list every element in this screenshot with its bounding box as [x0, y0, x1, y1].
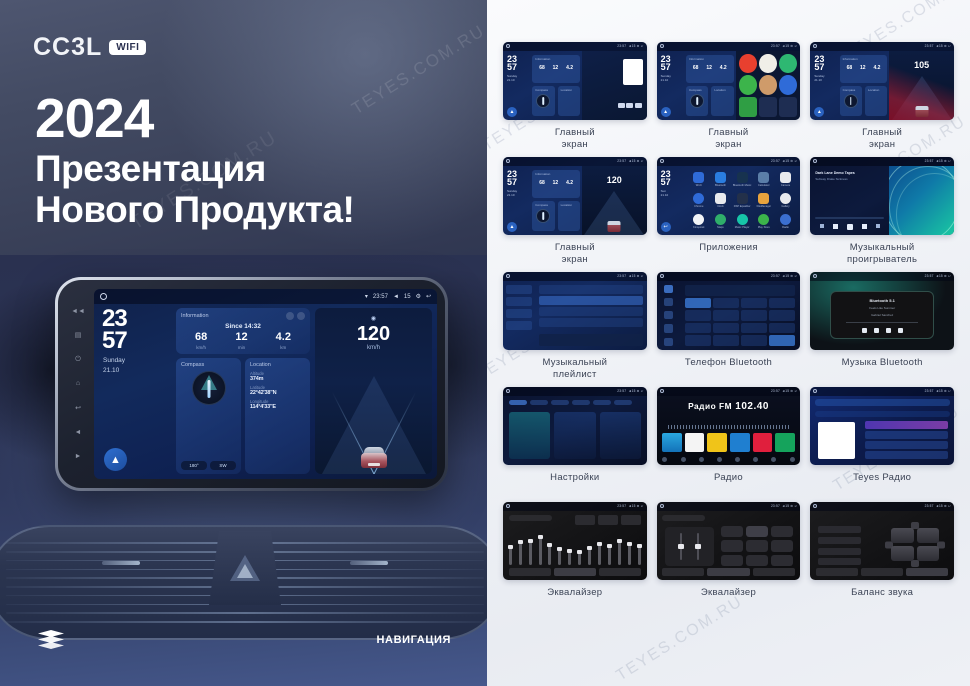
stat-unit: min [235, 345, 247, 350]
home-icon [506, 504, 510, 508]
gallery-item[interactable]: 23:57◄15 ⚙ ↩ Радио FM 102.40 [657, 387, 801, 496]
radio-frequency: 102.40 [735, 401, 769, 412]
volume-down-key[interactable]: ◄ [75, 429, 82, 436]
speed-unit: km/h [367, 345, 380, 351]
settings-icon[interactable] [286, 312, 294, 320]
thumbnail-caption: Музыкальныйплейлист [542, 357, 607, 381]
gallery-item[interactable]: 23:57◄15 ⚙ ↩ Dark Lane Demo Tapes Subway… [810, 157, 954, 266]
compass-heading: 180° [181, 461, 207, 470]
menu-key[interactable]: ▤ [75, 332, 82, 339]
watermark: TEYES.COM.RU [348, 21, 487, 119]
status-time: 23:57 [617, 159, 626, 163]
status-icons: ◄15 ⚙ ↩ [628, 44, 643, 48]
gallery-item[interactable]: 23:57◄15 ⚙ ↩ Эквалайзер [503, 502, 647, 611]
status-time: 23:57 [617, 44, 626, 48]
status-time: 23:57 [771, 159, 780, 163]
app-tile: Play Store [754, 212, 774, 231]
settings-tabs[interactable] [509, 400, 632, 405]
app-grid[interactable]: Wi-Fi Bluetooth Bluetooth Music Calculat… [684, 166, 800, 235]
thumbnail-image[interactable]: 23:57◄15 ⚙ ↩ [503, 387, 647, 465]
latitude-value: 22°42'38"N [250, 390, 305, 396]
thumbnail-caption: Музыка Bluetooth [842, 357, 923, 381]
presentation-page: TEYES.COM.RU TEYES.COM.RU TEYES.COM.RU C… [0, 0, 970, 686]
thumbnail-caption: Музыкальныйпроигрыватель [847, 242, 917, 266]
stat-unit: km/h [195, 345, 207, 350]
phone-sidebar[interactable] [657, 281, 680, 350]
clock-day: Sunday [99, 357, 171, 365]
widget-column: Information Since 14:32 68 km/h [176, 308, 310, 474]
speed-value: 120 [582, 175, 647, 185]
thumbnail-caption: Приложения [699, 242, 758, 266]
thumbnail-image[interactable]: 23:57◄15 ⚙ ↩ [810, 387, 954, 465]
layers-icon [38, 630, 64, 652]
status-time: 23:57 [925, 159, 934, 163]
thumbnail-image[interactable]: 23:57◄15 ⚙ ↩ [657, 502, 801, 580]
playlist-sidebar[interactable] [503, 281, 535, 350]
head-unit-screen[interactable]: ▾ 23:57 ◄ 15 ⚙ ↩ 23 57 Sunday 21.10 [94, 289, 437, 479]
hazard-button[interactable] [209, 531, 281, 605]
eq-tabs[interactable] [509, 568, 641, 576]
mute-key[interactable]: ◄◄ [71, 308, 85, 315]
home-icon [660, 504, 664, 508]
volume-up-key[interactable]: ► [75, 453, 82, 460]
status-time: 23:57 [771, 274, 780, 278]
stat-item: 12 min [235, 332, 247, 350]
app-tile: Music Player [732, 212, 752, 231]
balance-presets[interactable] [818, 526, 861, 566]
stat-value: 68 [195, 332, 207, 343]
balance-stage[interactable] [885, 522, 945, 568]
status-icons: ◄15 ⚙ ↩ [936, 389, 951, 393]
radio-toolbar[interactable] [662, 456, 794, 463]
thumbnail-image[interactable]: 23:57◄15 ⚙ ↩ [503, 502, 647, 580]
app-tile: Gallery [776, 191, 796, 210]
app-tile: Bluetooth Music [732, 170, 752, 189]
home-icon[interactable] [100, 293, 107, 300]
status-icons: ◄15 ⚙ ↩ [936, 159, 951, 163]
back-icon[interactable]: ↩ [426, 293, 431, 300]
navigation-label: НАВИГАЦИЯ [377, 634, 451, 646]
product-logo: CC3L WIFI [33, 33, 146, 62]
thumbnail-caption: Главныйэкран [709, 127, 749, 151]
wifi-badge: WIFI [109, 40, 146, 55]
bluetooth-version: Bluetooth 5.1 [869, 298, 894, 303]
status-icons: ◄15 ⚙ ↩ [628, 504, 643, 508]
status-icons: ◄15 ⚙ ↩ [782, 504, 797, 508]
gallery-item[interactable]: 23:57◄15 ⚙ ↩ Настройки [503, 387, 647, 496]
home-icon [660, 274, 664, 278]
navigation-button[interactable]: ▲ [104, 448, 127, 471]
more-card [600, 412, 641, 459]
app-tile: Radio [776, 212, 796, 231]
eq-preset-buttons[interactable] [575, 515, 641, 525]
eq-effect-pads[interactable] [721, 526, 793, 566]
clock-minutes: 57 [99, 330, 171, 352]
status-time: 23:57 [617, 274, 626, 278]
thumbnail-caption: Телефон Bluetooth [685, 357, 772, 381]
gallery-item[interactable]: 23:57◄15 ⚙ ↩ 2357Sunday21.10▲ Informatio… [503, 42, 647, 151]
app-tile: Kinopoisk [689, 212, 709, 231]
status-time: 23:57 [771, 504, 780, 508]
gallery-item[interactable]: 23:57◄15 ⚙ ↩ 2357Sunday21.10▲ Informatio… [657, 42, 801, 151]
refresh-icon[interactable] [297, 312, 305, 320]
radio-band: Радио FM [688, 401, 732, 411]
thumbnail-image[interactable]: 23:57◄15 ⚙ ↩ [503, 272, 647, 350]
home-icon [813, 389, 817, 393]
hotspot-card [554, 412, 595, 459]
eq-preset-label [662, 515, 705, 521]
home-icon [506, 44, 510, 48]
back-key[interactable]: ↩ [75, 405, 81, 412]
thumbnail-image[interactable]: 23:57◄15 ⚙ ↩ Dark Lane Demo Tapes Subway… [810, 157, 954, 235]
home-icon [660, 389, 664, 393]
thumbnail-caption: Главныйэкран [555, 127, 595, 151]
altitude-value: 374m [250, 376, 305, 382]
thumbnail-image[interactable]: 23:57◄15 ⚙ ↩ 2357Sunday21.10▲ Informatio… [503, 157, 647, 235]
screenshot-gallery: TEYES.COM.RU TEYES.COM.RU TEYES.COM.RU T… [487, 0, 970, 686]
status-time: 23:57 [771, 44, 780, 48]
wifi-card [509, 412, 550, 459]
thumbnail-caption: Эквалайзер [547, 587, 602, 611]
gallery-item[interactable]: 23:57◄15 ⚙ ↩ Эквалайзер [657, 502, 801, 611]
stat-item: 4.2 km [276, 332, 291, 350]
compass-dial [192, 371, 226, 405]
thumbnail-image[interactable]: 23:57◄15 ⚙ ↩ Радио FM 102.40 [657, 387, 801, 465]
thumbnail-caption: Радио [714, 472, 743, 496]
home-icon [813, 504, 817, 508]
app-tile: Chrome [689, 191, 709, 210]
eq-preset-label [509, 515, 552, 521]
thumbnail-image[interactable]: 23:57◄15 ⚙ ↩ 2357Sunday21.10▲ Informatio… [810, 42, 954, 120]
gallery-item[interactable]: 23:57◄15 ⚙ ↩ [657, 272, 801, 381]
thumbnail-caption: Главныйэкран [862, 127, 902, 151]
teyes-radio-tabs[interactable] [815, 399, 950, 406]
status-icons: ◄15 ⚙ ↩ [782, 389, 797, 393]
hardware-key-column[interactable]: ◄◄ ▤ ⏻ ⌂ ↩ ◄ ► [68, 289, 88, 479]
location-title: Location [250, 362, 271, 368]
thumbnail-image[interactable]: 23:57◄15 ⚙ ↩ Bluetooth 5.1 Feels Like Su… [810, 272, 954, 350]
media-controls[interactable] [617, 103, 643, 108]
now-playing-bar[interactable] [539, 334, 643, 346]
status-icons: ◄15 ⚙ ↩ [936, 44, 951, 48]
clock-date: 21.10 [99, 367, 171, 375]
gallery-item[interactable]: 23:57◄15 ⚙ ↩ 2357Sunday21.10▲ Informatio… [503, 157, 647, 266]
status-time: 23:57 [617, 389, 626, 393]
track-title: Dark Lane Demo Tapes [815, 171, 884, 175]
eq-level-sliders[interactable] [665, 527, 714, 566]
thumbnail-caption: Главныйэкран [555, 242, 595, 266]
teyes-radio-filters[interactable] [815, 411, 950, 417]
status-icons: ◄15 ⚙ ↩ [782, 274, 797, 278]
playlist-rows[interactable] [535, 281, 647, 350]
stat-unit: km [276, 345, 291, 350]
album-art [623, 59, 642, 85]
bluetooth-music-panel: Bluetooth 5.1 Feels Like Summer Gabriel … [830, 291, 934, 339]
home-icon [813, 274, 817, 278]
stat-value: 4.2 [276, 332, 291, 343]
home-icon [813, 44, 817, 48]
status-time: 23:57 [925, 389, 934, 393]
since-label: Since 14:32 [181, 323, 305, 330]
thumbnail-caption: Teyes Радио [853, 472, 911, 496]
seat-diagram [891, 528, 939, 561]
status-icons: ◄15 ⚙ ↩ [782, 44, 797, 48]
status-icons: ◄15 ⚙ ↩ [628, 389, 643, 393]
compass-direction: SW [210, 461, 236, 470]
clock-widget: 23 57 Sunday 21.10 ▲ [99, 308, 171, 474]
hero-title-line-2: Нового Продукта! [35, 189, 354, 230]
speed-widget[interactable]: ◉ 120 km/h [315, 308, 432, 474]
app-tile: Calculator [754, 170, 774, 189]
balance-rear-button[interactable] [911, 560, 919, 567]
app-tile: Camera [776, 170, 796, 189]
home-icon [506, 159, 510, 163]
app-tile: DSP Equalizer [732, 191, 752, 210]
app-tile: Clock [711, 191, 731, 210]
preset-tiles[interactable] [662, 433, 794, 452]
gallery-item[interactable]: 23:57◄15 ⚙ ↩ Teyes Радио [810, 387, 954, 496]
status-time: 23:57 [373, 294, 388, 300]
page-title: 2024 Презентация Нового Продукта! [35, 90, 354, 231]
album-art [818, 422, 855, 459]
home-icon [506, 389, 510, 393]
dashboard-vent [0, 525, 487, 640]
eq-tabs[interactable] [662, 568, 794, 576]
status-icons: ◄15 ⚙ ↩ [782, 159, 797, 163]
thumbnail-grid: 23:57◄15 ⚙ ↩ 2357Sunday21.10▲ Informatio… [503, 42, 954, 611]
hazard-triangle-icon [230, 555, 260, 581]
status-bar: ▾ 23:57 ◄ 15 ⚙ ↩ [94, 289, 437, 304]
home-icon [660, 44, 664, 48]
status-icons: ◄15 ⚙ ↩ [936, 504, 951, 508]
app-tile: FileManager [754, 191, 774, 210]
status-time: 23:57 [925, 274, 934, 278]
eq-tabs[interactable] [816, 568, 948, 576]
bt-track-artist: Gabriel Sanchez [871, 313, 893, 317]
status-icons: ◄15 ⚙ ↩ [628, 159, 643, 163]
volume-icon: ◄ [393, 294, 399, 300]
tuner-scale[interactable] [668, 425, 789, 429]
dial-pad[interactable] [685, 298, 796, 346]
hero-title-line-1: Презентация [35, 148, 354, 189]
gallery-item[interactable]: 23:57◄15 ⚙ ↩ Баланс звука [810, 502, 954, 611]
status-icons: ◄15 ⚙ ↩ [936, 274, 951, 278]
app-tile: Bluetooth [711, 170, 731, 189]
thumbnail-image[interactable]: 23:57◄15 ⚙ ↩ 2357Sunday21.10▲ Informatio… [657, 42, 801, 120]
speed-value: 105 [889, 60, 954, 70]
information-card[interactable]: Information Since 14:32 68 km/h [176, 308, 310, 354]
stat-item: 68 km/h [195, 332, 207, 350]
thumbnail-image[interactable]: 23:57◄15 ⚙ ↩ [657, 272, 801, 350]
status-time: 23:57 [617, 504, 626, 508]
hero-panel: TEYES.COM.RU TEYES.COM.RU TEYES.COM.RU C… [0, 0, 487, 686]
track-artist: Subway Drake Sickness [815, 177, 884, 181]
stat-value: 12 [235, 332, 247, 343]
hero-year: 2024 [35, 90, 354, 148]
gallery-item[interactable]: 23:57◄15 ⚙ ↩ Bluetooth 5.1 Feels Like Su… [810, 272, 954, 381]
speed-value: 120 [357, 324, 390, 344]
speed-icon: ◉ [371, 315, 376, 322]
gallery-item[interactable]: 23:57◄15 ⚙ ↩ 2357Sun21.10↩ Wi-Fi Bluetoo… [657, 157, 801, 266]
app-tile: Maps [711, 212, 731, 231]
bt-track-title: Feels Like Summer [869, 306, 895, 310]
power-key[interactable]: ⏻ [75, 356, 81, 363]
status-time: 23:57 [925, 44, 934, 48]
dial-display [685, 285, 796, 296]
compass-card[interactable]: Compass 180° SW [176, 358, 241, 474]
status-time: 23:57 [925, 504, 934, 508]
brand-name: CC3L [33, 33, 102, 62]
status-time: 23:57 [771, 389, 780, 393]
station-list[interactable] [865, 421, 948, 460]
gallery-item[interactable]: 23:57◄15 ⚙ ↩ 2357Sunday21.10▲ Informatio… [810, 42, 954, 151]
status-icons: ◄15 ⚙ ↩ [628, 274, 643, 278]
home-icon [506, 274, 510, 278]
settings-cards[interactable] [509, 412, 641, 459]
gear-icon[interactable]: ⚙ [416, 293, 421, 300]
car-graphic [361, 444, 387, 468]
home-icon [813, 159, 817, 163]
eq-band-sliders[interactable] [509, 529, 641, 565]
thumbnail-caption: Настройки [550, 472, 599, 496]
app-tile: Wi-Fi [689, 170, 709, 189]
media-controls[interactable] [862, 328, 903, 333]
volume-level: 15 [404, 294, 411, 300]
information-title: Information [181, 313, 209, 319]
location-card[interactable]: Location Altitude 374m Latitude 22°42'38… [245, 358, 310, 474]
vent-tab-right [350, 561, 388, 565]
longitude-value: 114°4'33"E [250, 404, 305, 410]
home-icon [660, 159, 664, 163]
thumbnail-image[interactable]: 23:57◄15 ⚙ ↩ [810, 502, 954, 580]
gallery-item[interactable]: 23:57◄15 ⚙ ↩ Музыкальныйплейлист [503, 272, 647, 381]
compass-title: Compass [181, 362, 204, 368]
vent-tab-left [102, 561, 140, 565]
thumbnail-caption: Баланс звука [851, 587, 913, 611]
thumbnail-image[interactable]: 23:57◄15 ⚙ ↩ 2357Sunday21.10▲ Informatio… [503, 42, 647, 120]
thumbnail-image[interactable]: 23:57◄15 ⚙ ↩ 2357Sun21.10↩ Wi-Fi Bluetoo… [657, 157, 801, 235]
radio-frequency-display: Радио FM 102.40 [657, 401, 801, 412]
head-unit-device: ◄◄ ▤ ⏻ ⌂ ↩ ◄ ► ▾ 23:57 ◄ 15 [55, 277, 448, 491]
media-controls[interactable] [815, 224, 884, 230]
home-key[interactable]: ⌂ [76, 380, 80, 387]
thumbnail-caption: Эквалайзер [701, 587, 756, 611]
wifi-icon: ▾ [365, 293, 368, 300]
